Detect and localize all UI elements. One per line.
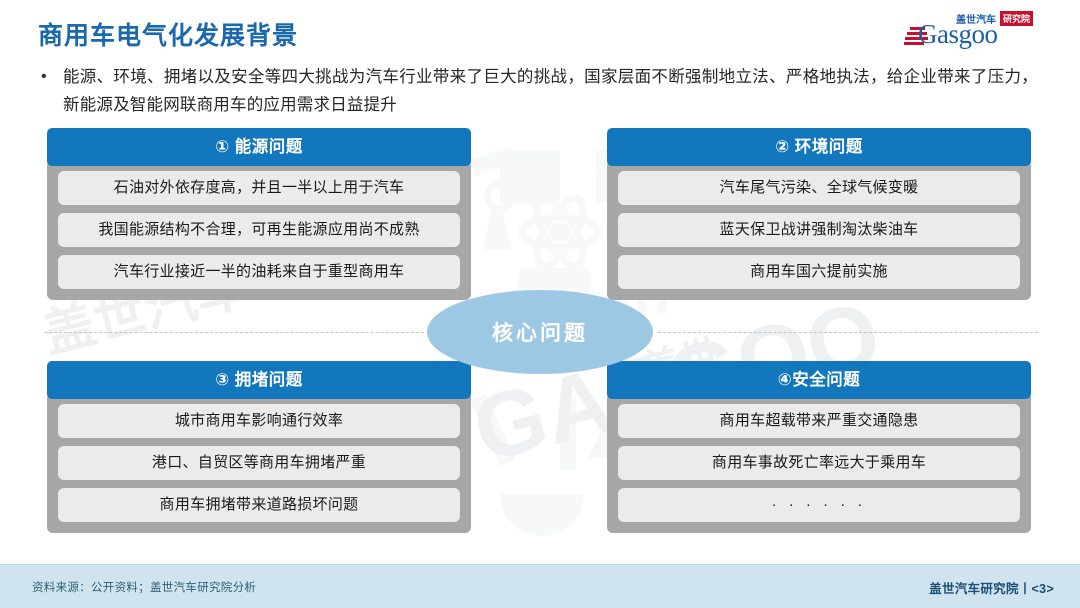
footer-brand: 盖世汽车研究院丨<3> <box>929 578 1054 597</box>
core-issue-label: 核心问题 <box>492 317 588 347</box>
panel-congestion-body: 城市商用车影响通行效率 港口、自贸区等商用车拥堵严重 商用车拥堵带来道路损坏问题 <box>47 393 471 533</box>
panel-environment-body: 汽车尾气污染、全球气候变暖 蓝天保卫战讲强制淘汰柴油车 商用车国六提前实施 <box>607 160 1031 300</box>
page-title: 商用车电气化发展背景 <box>38 16 298 52</box>
list-item: 城市商用车影响通行效率 <box>58 404 460 438</box>
panel-environment: ② 环境问题 汽车尾气污染、全球气候变暖 蓝天保卫战讲强制淘汰柴油车 商用车国六… <box>607 128 1031 300</box>
list-item: 商用车国六提前实施 <box>618 255 1020 289</box>
list-item: 我国能源结构不合理，可再生能源应用尚不成熟 <box>58 213 460 247</box>
bullet-marker-icon: • <box>38 63 63 91</box>
footer-band: 资料来源：公开资料；盖世汽车研究院分析 盖世汽车研究院丨<3> <box>0 564 1080 608</box>
logo-chinese-lockup: 盖世汽车 研究院 <box>956 11 1033 26</box>
list-item: 商用车拥堵带来道路损坏问题 <box>58 488 460 522</box>
core-issue-node: 核心问题 <box>427 290 653 374</box>
panel-safety-body: 商用车超载带来严重交通隐患 商用车事故死亡率远大于乘用车 · · · · · · <box>607 393 1031 533</box>
list-item: 商用车超载带来严重交通隐患 <box>618 404 1020 438</box>
panel-energy: ① 能源问题 石油对外依存度高，并且一半以上用于汽车 我国能源结构不合理，可再生… <box>47 128 471 300</box>
panel-environment-header: ② 环境问题 <box>607 128 1031 166</box>
panel-congestion: ③ 拥堵问题 城市商用车影响通行效率 港口、自贸区等商用车拥堵严重 商用车拥堵带… <box>47 361 471 533</box>
divider-right <box>658 332 1038 333</box>
panel-congestion-header: ③ 拥堵问题 <box>47 361 471 399</box>
list-item: 港口、自贸区等商用车拥堵严重 <box>58 446 460 480</box>
list-item: 石油对外依存度高，并且一半以上用于汽车 <box>58 171 460 205</box>
logo-zh-badge: 研究院 <box>1000 11 1033 26</box>
list-item: 汽车行业接近一半的油耗来自于重型商用车 <box>58 255 460 289</box>
panel-energy-header: ① 能源问题 <box>47 128 471 166</box>
intro-bullet-text: 能源、环境、拥堵以及安全等四大挑战为汽车行业带来了巨大的挑战，国家层面不断强制地… <box>63 63 1038 119</box>
panel-safety-header: ④安全问题 <box>607 361 1031 399</box>
list-item: 汽车尾气污染、全球气候变暖 <box>618 171 1020 205</box>
panel-energy-body: 石油对外依存度高，并且一半以上用于汽车 我国能源结构不合理，可再生能源应用尚不成… <box>47 160 471 300</box>
divider-left <box>44 332 424 333</box>
slide-root: 盖世汽车 GASGOO 盖世 汽车 商用车电气化发展背景 Gasgoo 盖世汽车… <box>0 0 1080 608</box>
list-item: 蓝天保卫战讲强制淘汰柴油车 <box>618 213 1020 247</box>
panel-safety: ④安全问题 商用车超载带来严重交通隐患 商用车事故死亡率远大于乘用车 · · ·… <box>607 361 1031 533</box>
list-item: 商用车事故死亡率远大于乘用车 <box>618 446 1020 480</box>
footer-source: 资料来源：公开资料；盖世汽车研究院分析 <box>32 579 256 595</box>
intro-bullet: • 能源、环境、拥堵以及安全等四大挑战为汽车行业带来了巨大的挑战，国家层面不断强… <box>38 63 1038 119</box>
gasgoo-logo: Gasgoo 盖世汽车 研究院 <box>904 10 1054 54</box>
list-item: · · · · · · <box>618 488 1020 522</box>
logo-zh-primary: 盖世汽车 <box>956 11 996 26</box>
